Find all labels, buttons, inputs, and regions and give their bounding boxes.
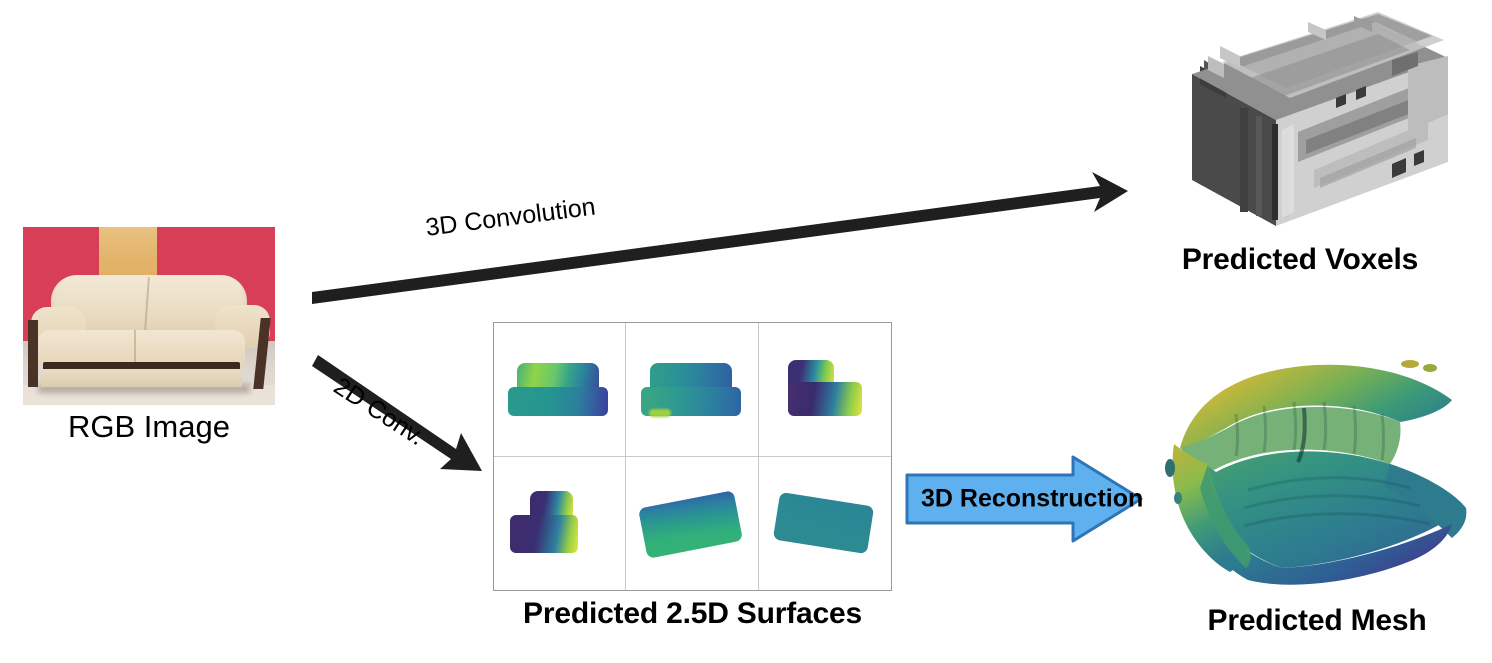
rgb-image-thumbnail	[23, 227, 275, 405]
depth-map-side-view	[788, 360, 862, 416]
arrow-3d-reconstruction-shape	[905, 455, 1144, 543]
depth-map-rear-view	[641, 363, 741, 416]
surface-cell-6	[759, 457, 891, 591]
rgb-image-caption: RGB Image	[23, 409, 275, 445]
depth-seat	[788, 382, 862, 415]
depth-seat	[510, 515, 578, 553]
depth-highlight	[649, 409, 671, 416]
arrow-3d-reconstruction: 3D Reconstruction	[905, 455, 1144, 543]
surface-cell-1	[494, 323, 626, 457]
surface-cell-4	[494, 457, 626, 591]
figure-canvas: RGB Image 3D Convolution 2D Conv.	[0, 0, 1492, 663]
depth-map-front-view	[508, 363, 608, 416]
depth-map-top-view	[638, 490, 743, 558]
predicted-voxels-caption: Predicted Voxels	[1150, 243, 1450, 277]
surface-cell-3	[759, 323, 891, 457]
depth-seat	[508, 387, 608, 416]
voxel-mesh-shape	[1186, 12, 1456, 234]
photo-sofa-left-side-panel	[28, 320, 38, 388]
depth-map-opposite-side-view	[510, 491, 578, 552]
photo-sofa-seat	[38, 330, 245, 366]
arrow-3d-convolution	[300, 150, 1130, 310]
predicted-mesh-caption: Predicted Mesh	[1152, 604, 1482, 638]
photo-sofa-base	[41, 369, 243, 387]
surface-cell-2	[626, 323, 758, 457]
mesh-shape	[1152, 352, 1482, 598]
predicted-surfaces-caption: Predicted 2.5D Surfaces	[493, 597, 892, 631]
surface-cell-5	[626, 457, 758, 591]
predicted-mesh-render	[1152, 352, 1482, 598]
predicted-voxels-render	[1186, 12, 1456, 234]
photo-seat-seam	[134, 330, 136, 362]
depth-map-bottom-view	[773, 492, 875, 554]
predicted-surfaces-grid	[493, 322, 892, 591]
